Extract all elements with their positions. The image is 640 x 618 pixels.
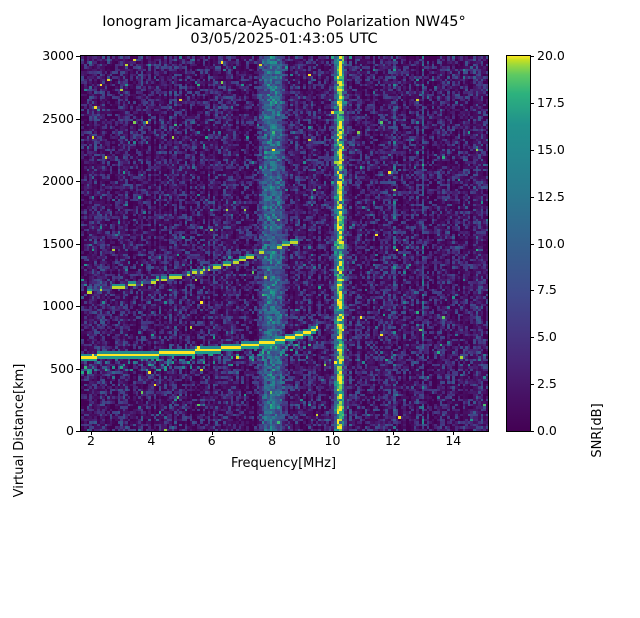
y-tick-mark (76, 306, 80, 307)
y-tick-label: 2000 (32, 175, 74, 187)
colorbar-tick-mark (530, 337, 534, 338)
x-tick-label: 10 (313, 434, 353, 447)
colorbar-tick-mark (530, 244, 534, 245)
x-tick-label: 14 (433, 434, 473, 447)
y-tick-label: 1000 (32, 300, 74, 312)
y-tick-label: 1500 (32, 238, 74, 250)
colorbar-tick-mark (530, 197, 534, 198)
y-tick-mark (76, 56, 80, 57)
x-tick-label: 6 (192, 434, 232, 447)
colorbar-tick-label: 7.5 (537, 284, 585, 296)
x-tick-mark (272, 431, 273, 435)
colorbar-tick-label: 10.0 (537, 238, 585, 250)
y-tick-mark (76, 119, 80, 120)
x-axis-label: Frequency[MHz] (80, 456, 487, 471)
x-tick-mark (393, 431, 394, 435)
colorbar-tick-label: 12.5 (537, 191, 585, 203)
colorbar-tick-mark (530, 290, 534, 291)
x-tick-mark (91, 431, 92, 435)
y-tick-mark (76, 181, 80, 182)
y-tick-mark (76, 369, 80, 370)
colorbar-tick-mark (530, 384, 534, 385)
x-tick-mark (212, 431, 213, 435)
x-tick-mark (453, 431, 454, 435)
title-line-1: Ionogram Jicamarca-Ayacucho Polarization… (80, 14, 488, 31)
y-axis-tick-labels: 050010001500200025003000 (26, 0, 74, 480)
colorbar-tick-label: 17.5 (537, 97, 585, 109)
colorbar-tick-label: 0.0 (537, 425, 585, 437)
y-tick-mark (76, 244, 80, 245)
ionogram-heatmap-canvas (81, 56, 488, 431)
colorbar-tick-mark (530, 103, 534, 104)
x-tick-label: 4 (131, 434, 171, 447)
x-tick-mark (151, 431, 152, 435)
x-tick-label: 2 (71, 434, 111, 447)
colorbar-tick-label: 20.0 (537, 50, 585, 62)
colorbar-tick-label: 2.5 (537, 378, 585, 390)
colorbar-tick-mark (530, 431, 534, 432)
x-tick-label: 12 (373, 434, 413, 447)
y-tick-label: 500 (32, 363, 74, 375)
colorbar-tick-label: 15.0 (537, 144, 585, 156)
x-tick-label: 8 (252, 434, 292, 447)
colorbar (506, 55, 531, 432)
ionogram-plot-area (80, 55, 489, 432)
x-tick-mark (333, 431, 334, 435)
colorbar-tick-mark (530, 56, 534, 57)
y-tick-label: 0 (32, 425, 74, 437)
colorbar-tick-label: 5.0 (537, 331, 585, 343)
colorbar-gradient (507, 56, 530, 431)
y-tick-mark (76, 431, 80, 432)
y-tick-label: 3000 (32, 50, 74, 62)
colorbar-tick-mark (530, 150, 534, 151)
page-title: Ionogram Jicamarca-Ayacucho Polarization… (80, 14, 488, 48)
y-tick-label: 2500 (32, 113, 74, 125)
colorbar-label: SNR[dB] (590, 243, 608, 618)
title-line-2: 03/05/2025-01:43:05 UTC (80, 31, 488, 48)
ionogram-figure: Ionogram Jicamarca-Ayacucho Polarization… (0, 0, 640, 480)
